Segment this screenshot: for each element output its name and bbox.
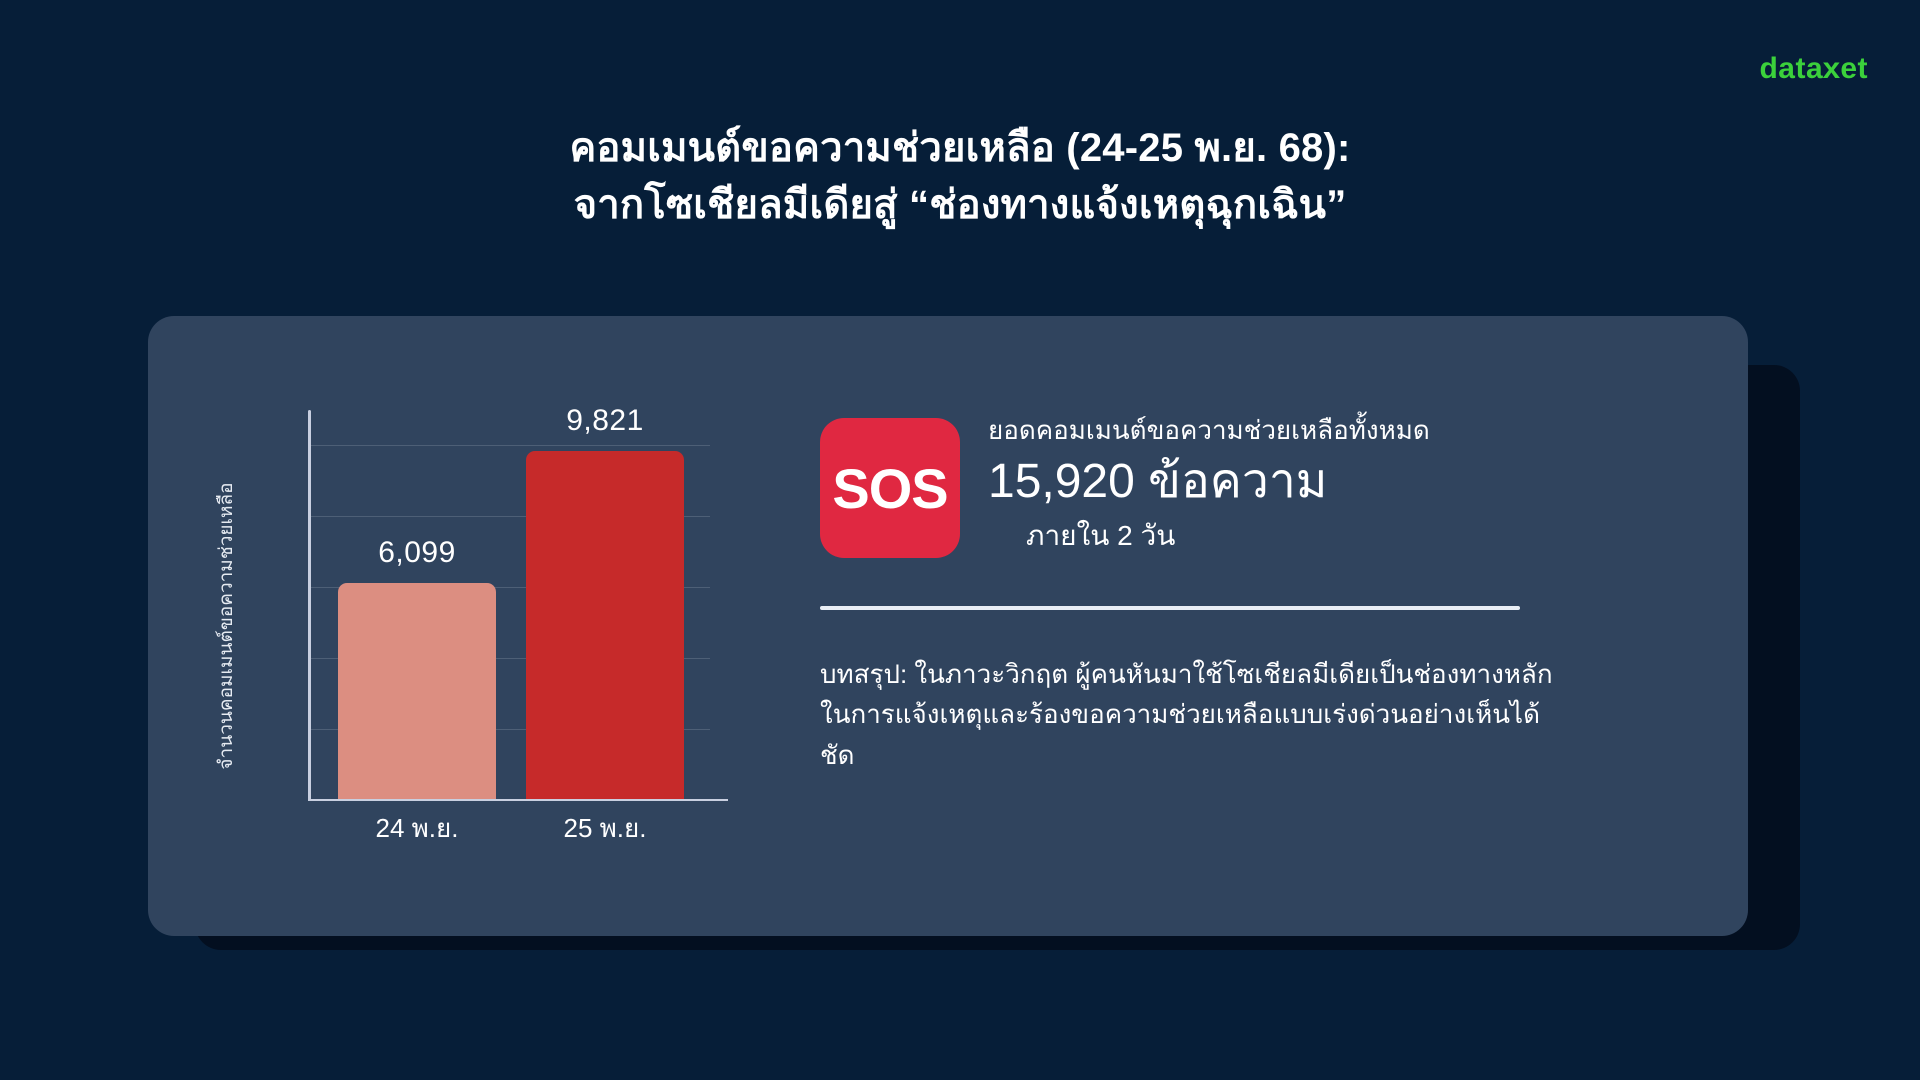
- summary-total-value: 15,920 ข้อความ: [988, 452, 1708, 512]
- logo-text-right: et: [1840, 52, 1868, 85]
- sos-badge-icon: SOS: [820, 418, 960, 558]
- summary-panel: SOS ยอดคอมเมนต์ขอความช่วยเหลือทั้งหมด 15…: [788, 316, 1748, 936]
- summary-kicker: ยอดคอมเมนต์ขอความช่วยเหลือทั้งหมด: [988, 414, 1708, 448]
- logo-text-left: data: [1759, 52, 1823, 85]
- x-axis-tick-label: 24 พ.ย.: [327, 808, 507, 849]
- bar-value-label: 9,821: [515, 404, 695, 438]
- bar-24-nov[interactable]: [338, 583, 496, 799]
- summary-text-block: ยอดคอมเมนต์ขอความช่วยเหลือทั้งหมด 15,920…: [988, 414, 1708, 558]
- title-line-1: คอมเมนต์ขอความช่วยเหลือ (24-25 พ.ย. 68):: [0, 120, 1920, 177]
- x-axis-line: [308, 799, 728, 801]
- logo-text-x: x: [1823, 52, 1841, 86]
- gridline: [310, 445, 710, 446]
- x-axis-tick-label: 25 พ.ย.: [515, 808, 695, 849]
- page-title: คอมเมนต์ขอความช่วยเหลือ (24-25 พ.ย. 68):…: [0, 120, 1920, 234]
- y-axis-label: จำนวนคอมเมนต์ขอความช่วยเหลือ: [211, 482, 241, 769]
- content-card: จำนวนคอมเมนต์ขอความช่วยเหลือ 6,099 9,821…: [148, 316, 1748, 936]
- title-line-2: จากโซเชียลมีเดียสู่ “ช่องทางแจ้งเหตุฉุกเ…: [0, 177, 1920, 234]
- plot-area: 6,099 9,821 24 พ.ย. 25 พ.ย.: [276, 410, 726, 800]
- sos-badge-label: SOS: [832, 456, 947, 521]
- divider: [820, 606, 1520, 610]
- y-axis-line: [308, 410, 311, 800]
- dataxet-logo: dataxet: [1759, 52, 1868, 86]
- bar-25-nov[interactable]: [526, 451, 684, 799]
- conclusion-text: บทสรุป: ในภาวะวิกฤต ผู้คนหันมาใช้โซเชียล…: [820, 654, 1560, 775]
- bar-chart: จำนวนคอมเมนต์ขอความช่วยเหลือ 6,099 9,821…: [148, 316, 788, 936]
- bar-value-label: 6,099: [327, 536, 507, 570]
- summary-period: ภายใน 2 วัน: [988, 514, 1708, 558]
